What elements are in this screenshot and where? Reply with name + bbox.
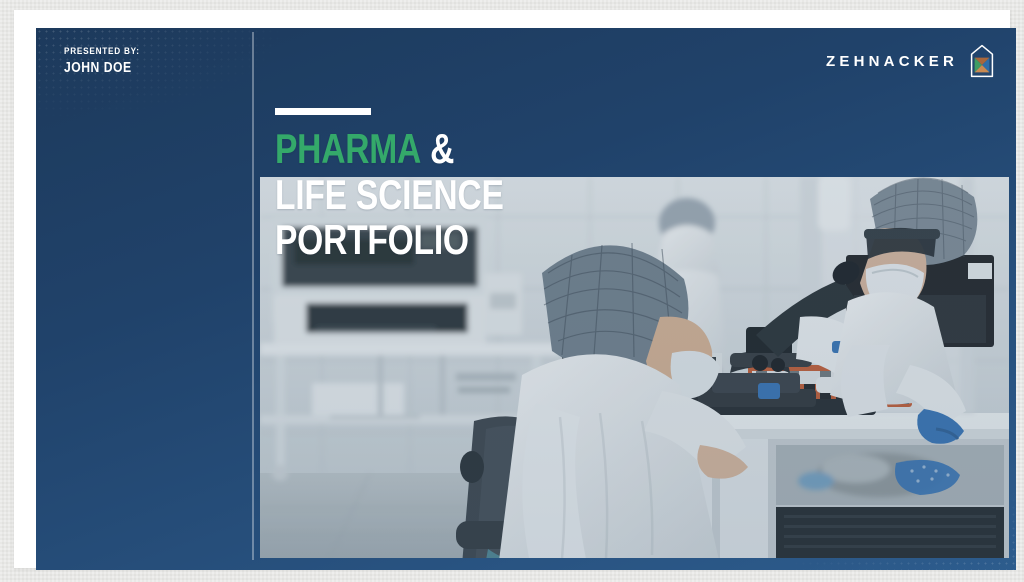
headline-accent-word: PHARMA (275, 125, 421, 172)
headline-line-1: PHARMA & (275, 129, 611, 170)
slide-headline: PHARMA & LIFE SCIENCE PORTFOLIO (275, 108, 695, 266)
presenter-credit-block: PRESENTED BY: JOHN DOE (64, 46, 152, 78)
headline-ampersand: & (430, 125, 454, 172)
headline-accent-bar (275, 108, 371, 115)
presenter-name: JOHN DOE (64, 59, 138, 77)
house-hourglass-logo-icon (970, 44, 994, 78)
presented-by-label: PRESENTED BY: (64, 46, 140, 57)
vertical-divider-rule (252, 32, 254, 560)
headline-line-3: PORTFOLIO (275, 220, 611, 261)
slide-paper-frame: PRESENTED BY: JOHN DOE ZEHNACKER (14, 10, 1010, 568)
screenshot-canvas: PRESENTED BY: JOHN DOE ZEHNACKER (0, 0, 1024, 582)
brand-lockup: ZEHNACKER (826, 44, 994, 78)
presentation-slide: PRESENTED BY: JOHN DOE ZEHNACKER (36, 28, 1016, 570)
headline-line-2: LIFE SCIENCE (275, 175, 611, 216)
brand-wordmark: ZEHNACKER (826, 54, 958, 69)
